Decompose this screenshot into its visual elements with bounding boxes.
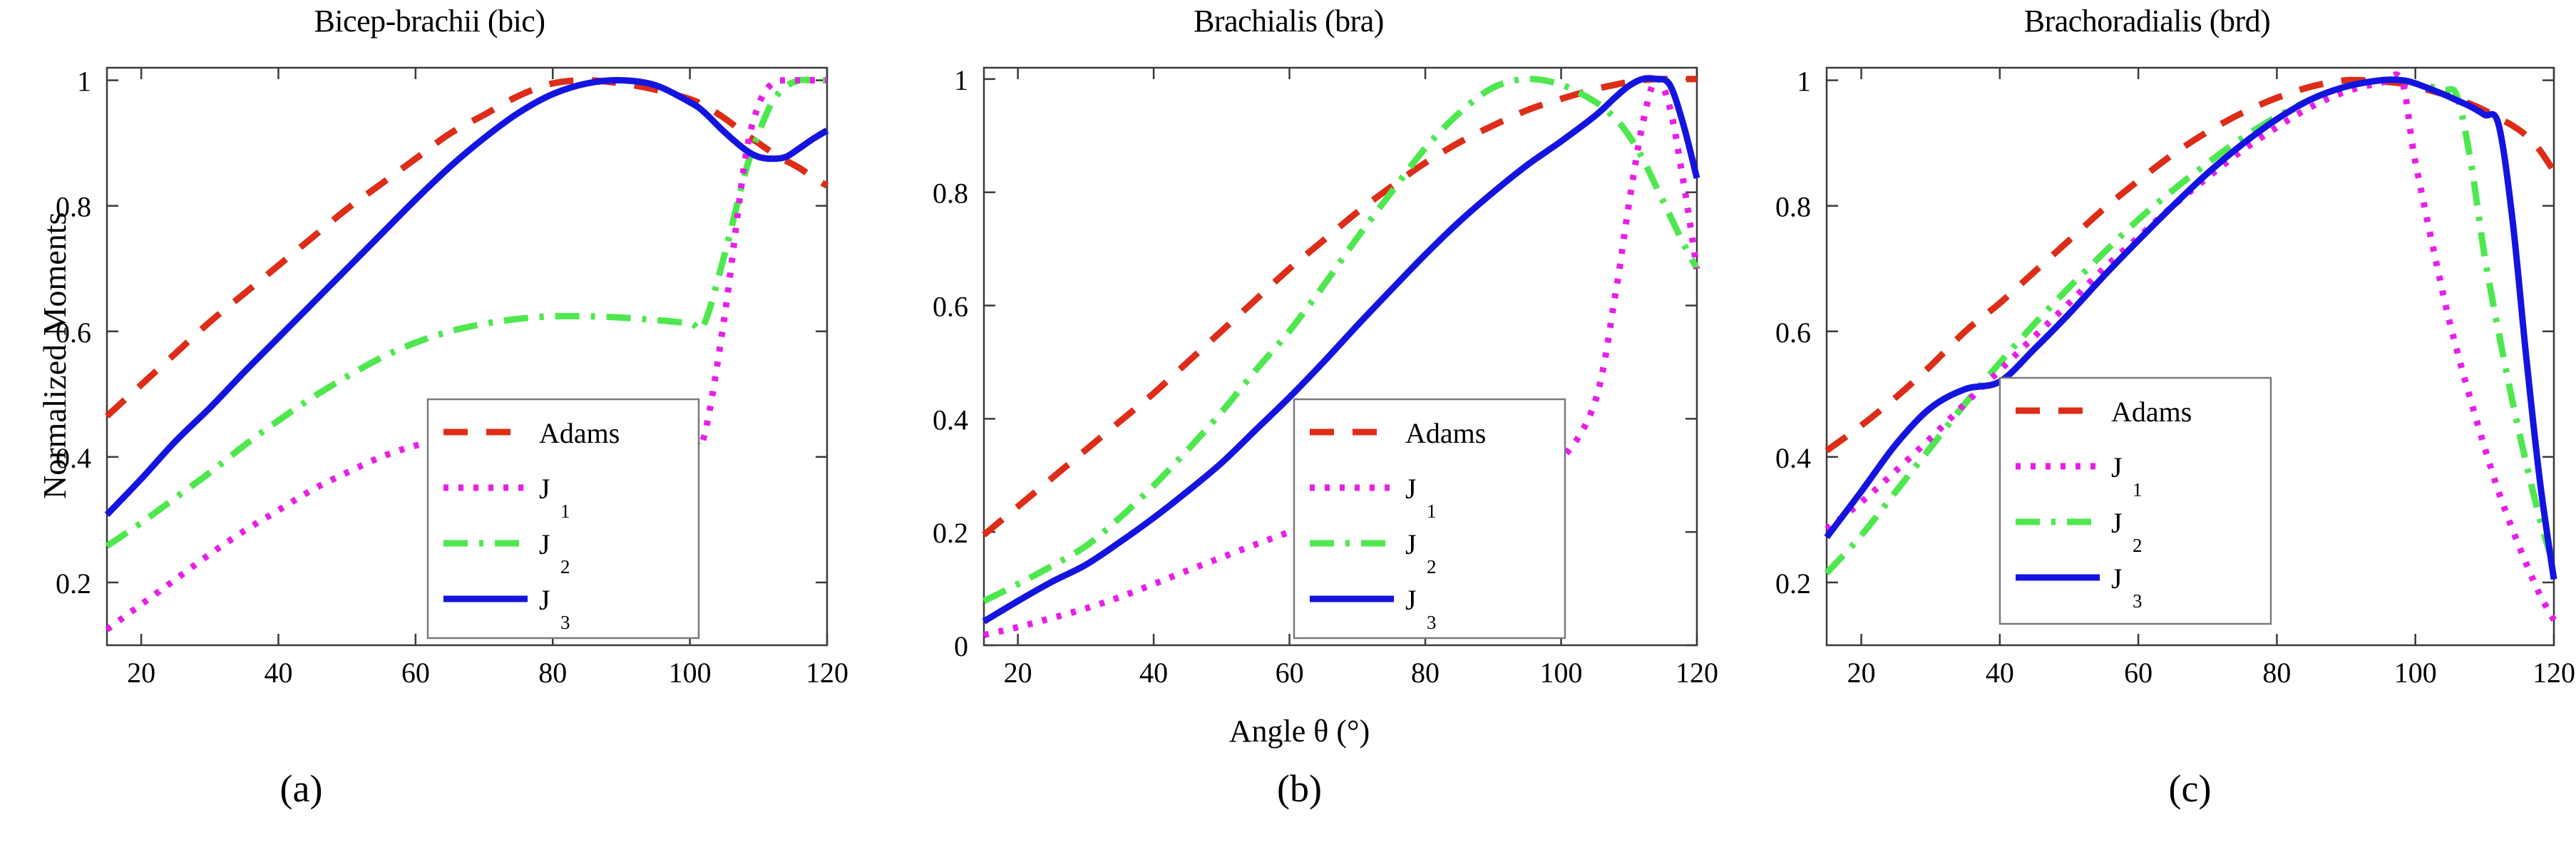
x-tick-label: 60 — [1276, 657, 1304, 689]
legend-label-subscript: 1 — [1427, 500, 1437, 522]
legend-label: J — [539, 473, 550, 505]
legend-label-subscript: 1 — [560, 500, 570, 522]
y-tick-label: 0.4 — [933, 404, 968, 436]
y-tick-label: 1 — [1797, 66, 1811, 98]
legend-label: J — [539, 584, 550, 616]
x-tick-label: 20 — [127, 657, 155, 689]
y-tick-label: 0.8 — [933, 178, 968, 210]
legend-label-subscript: 2 — [1427, 556, 1437, 577]
legend-label: J — [539, 528, 550, 560]
y-tick-label: 0 — [954, 630, 968, 662]
y-tick-label: 0.6 — [1775, 317, 1811, 349]
legend-label: J — [1405, 584, 1417, 616]
x-tick-label: 120 — [1676, 657, 1718, 689]
legend-label: Adams — [1405, 417, 1486, 449]
x-tick-label: 100 — [2394, 657, 2437, 689]
y-tick-label: 1 — [954, 64, 968, 96]
legend-label: J — [2111, 563, 2123, 595]
legend-label: J — [2111, 451, 2123, 483]
legend-label: Adams — [2111, 396, 2192, 428]
panel-a-caption: (a) — [0, 766, 731, 811]
panel-a: Bicep-brachii (bic) Normalized Moments 0… — [0, 0, 859, 842]
y-tick-label: 0.6 — [933, 291, 968, 323]
x-tick-label: 40 — [264, 657, 292, 689]
legend-label: Adams — [539, 417, 620, 449]
panel-b: Brachialis (bra) 00.20.40.60.81204060801… — [859, 0, 1718, 842]
x-tick-label: 100 — [669, 657, 712, 689]
y-tick-label: 0.6 — [56, 317, 91, 349]
legend-label-subscript: 1 — [2133, 479, 2143, 500]
x-tick-label: 120 — [2533, 657, 2575, 689]
y-tick-label: 0.4 — [1775, 442, 1811, 474]
y-tick-label: 0.8 — [1775, 191, 1811, 223]
legend-label-subscript: 3 — [1427, 612, 1437, 633]
y-tick-label: 0.2 — [56, 568, 91, 600]
panel-b-plot: 00.20.40.60.8120406080100120AdamsJ1J2J3 — [859, 0, 1718, 713]
legend-label-subscript: 3 — [2133, 590, 2143, 612]
y-tick-label: 0.8 — [56, 191, 91, 223]
x-tick-label: 20 — [1004, 657, 1032, 689]
panel-b-caption: (b) — [870, 766, 1729, 811]
y-tick-label: 0.2 — [933, 517, 968, 549]
y-tick-label: 1 — [77, 66, 91, 98]
x-tick-label: 80 — [2262, 657, 2291, 689]
legend-label-subscript: 2 — [560, 556, 570, 577]
x-tick-label: 80 — [538, 657, 567, 689]
legend-label-subscript: 3 — [560, 612, 570, 633]
legend-label-subscript: 2 — [2133, 535, 2143, 556]
y-tick-label: 0.4 — [56, 442, 91, 474]
legend-label: J — [1405, 528, 1417, 560]
x-tick-label: 60 — [2124, 657, 2152, 689]
x-tick-label: 40 — [1139, 657, 1168, 689]
x-axis-label: Angle θ (°) — [870, 713, 1729, 749]
legend-label: J — [1405, 473, 1417, 505]
y-tick-label: 0.2 — [1775, 568, 1811, 600]
x-tick-label: 120 — [806, 657, 848, 689]
legend-label: J — [2111, 507, 2123, 539]
x-tick-label: 20 — [1847, 657, 1876, 689]
panel-c: Brachoradialis (brd) 0.20.40.60.81204060… — [1718, 0, 2576, 842]
x-tick-label: 100 — [1540, 657, 1583, 689]
panel-a-plot: 0.20.40.60.8120406080100120AdamsJ1J2J3 — [0, 0, 859, 713]
x-tick-label: 60 — [401, 657, 430, 689]
figure-root: Bicep-brachii (bic) Normalized Moments 0… — [0, 0, 2576, 842]
panel-c-plot: 0.20.40.60.8120406080100120AdamsJ1J2J3 — [1718, 0, 2576, 713]
x-tick-label: 40 — [1986, 657, 2014, 689]
x-tick-label: 80 — [1411, 657, 1440, 689]
panel-c-caption: (c) — [1761, 766, 2576, 811]
